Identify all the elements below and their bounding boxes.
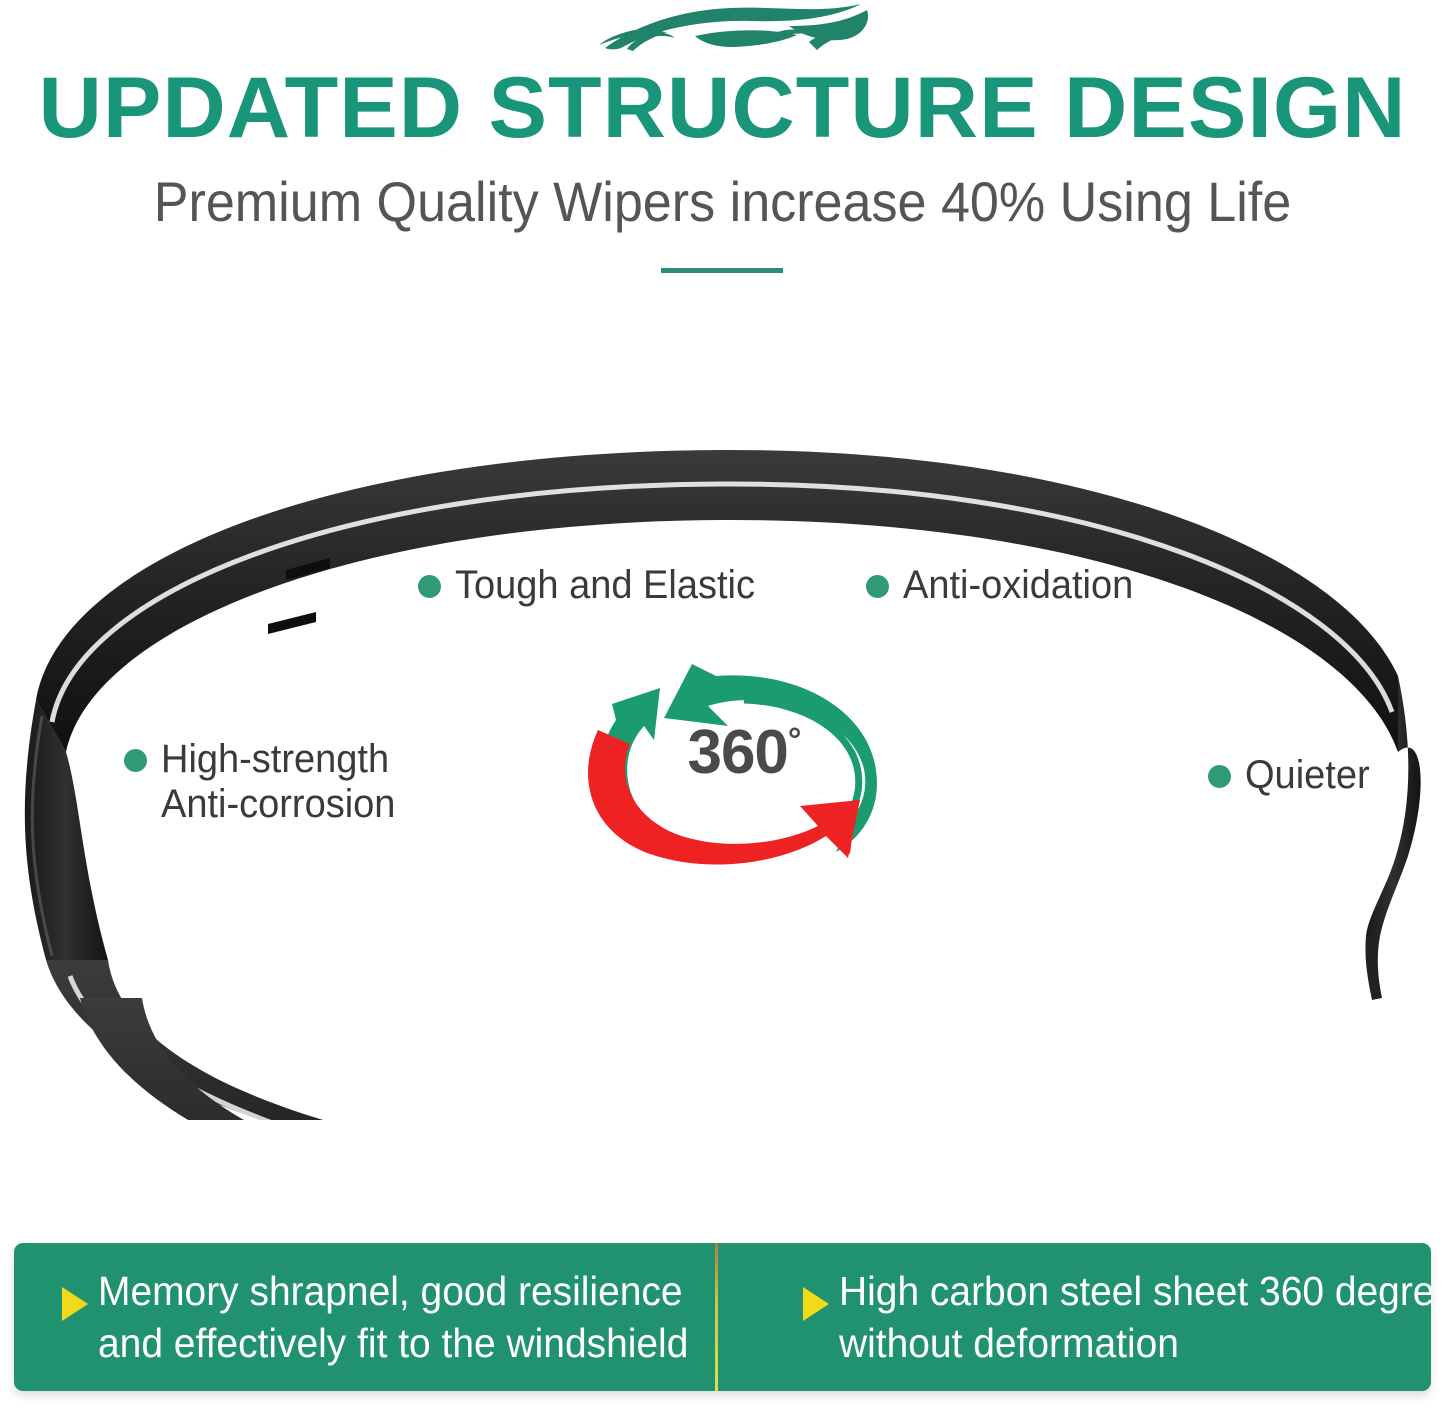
banner-right-text: High carbon steel sheet 360 degrees with… (839, 1265, 1445, 1369)
feature-tough-and-elastic: Tough and Elastic (418, 563, 771, 608)
banner-left-line2: and effectively fit to the windshield (98, 1317, 688, 1369)
triangle-bullet-icon (62, 1287, 88, 1321)
triangle-bullet-icon (803, 1287, 829, 1321)
feature-label-line1: High-strength (161, 737, 395, 782)
page-subtitle: Premium Quality Wipers increase 40% Usin… (51, 168, 1395, 236)
infographic-page: UPDATED STRUCTURE DESIGN Premium Quality… (0, 0, 1445, 1421)
feature-label-line2: Anti-corrosion (161, 782, 395, 827)
car-silhouette-icon (583, 2, 879, 58)
title-divider (661, 268, 783, 273)
banner-right-item: High carbon steel sheet 360 degrees with… (719, 1243, 1445, 1391)
feature-anti-oxidation: Anti-oxidation (866, 563, 1145, 608)
feature-quieter: Quieter (1208, 753, 1376, 798)
badge-360-degrees: 360° (568, 648, 920, 870)
bullet-dot-icon (866, 575, 889, 598)
bullet-dot-icon (124, 749, 147, 772)
page-title: UPDATED STRUCTURE DESIGN (0, 62, 1445, 154)
feature-label: Tough and Elastic (455, 563, 755, 608)
feature-high-strength-anti-corrosion: High-strength Anti-corrosion (124, 737, 408, 827)
banner-left-line1: Memory shrapnel, good resilience (98, 1265, 688, 1317)
strip-right-tip (1365, 936, 1382, 1000)
feature-label-group: High-strength Anti-corrosion (161, 737, 395, 827)
badge-value: 360° (568, 722, 920, 784)
feature-label: Quieter (1245, 753, 1370, 798)
banner-divider (715, 1243, 718, 1391)
bottom-feature-banner: Memory shrapnel, good resilience and eff… (14, 1243, 1431, 1391)
banner-right-line1: High carbon steel sheet 360 degrees (839, 1265, 1445, 1317)
strip-notch-upper-2 (268, 612, 316, 634)
banner-left-item: Memory shrapnel, good resilience and eff… (14, 1243, 719, 1391)
bullet-dot-icon (418, 575, 441, 598)
banner-left-text: Memory shrapnel, good resilience and eff… (98, 1265, 688, 1369)
bullet-dot-icon (1208, 765, 1231, 788)
banner-right-line2: without deformation (839, 1317, 1445, 1369)
strip-lower-highlight (70, 976, 1030, 1120)
feature-label: Anti-oxidation (903, 563, 1133, 608)
